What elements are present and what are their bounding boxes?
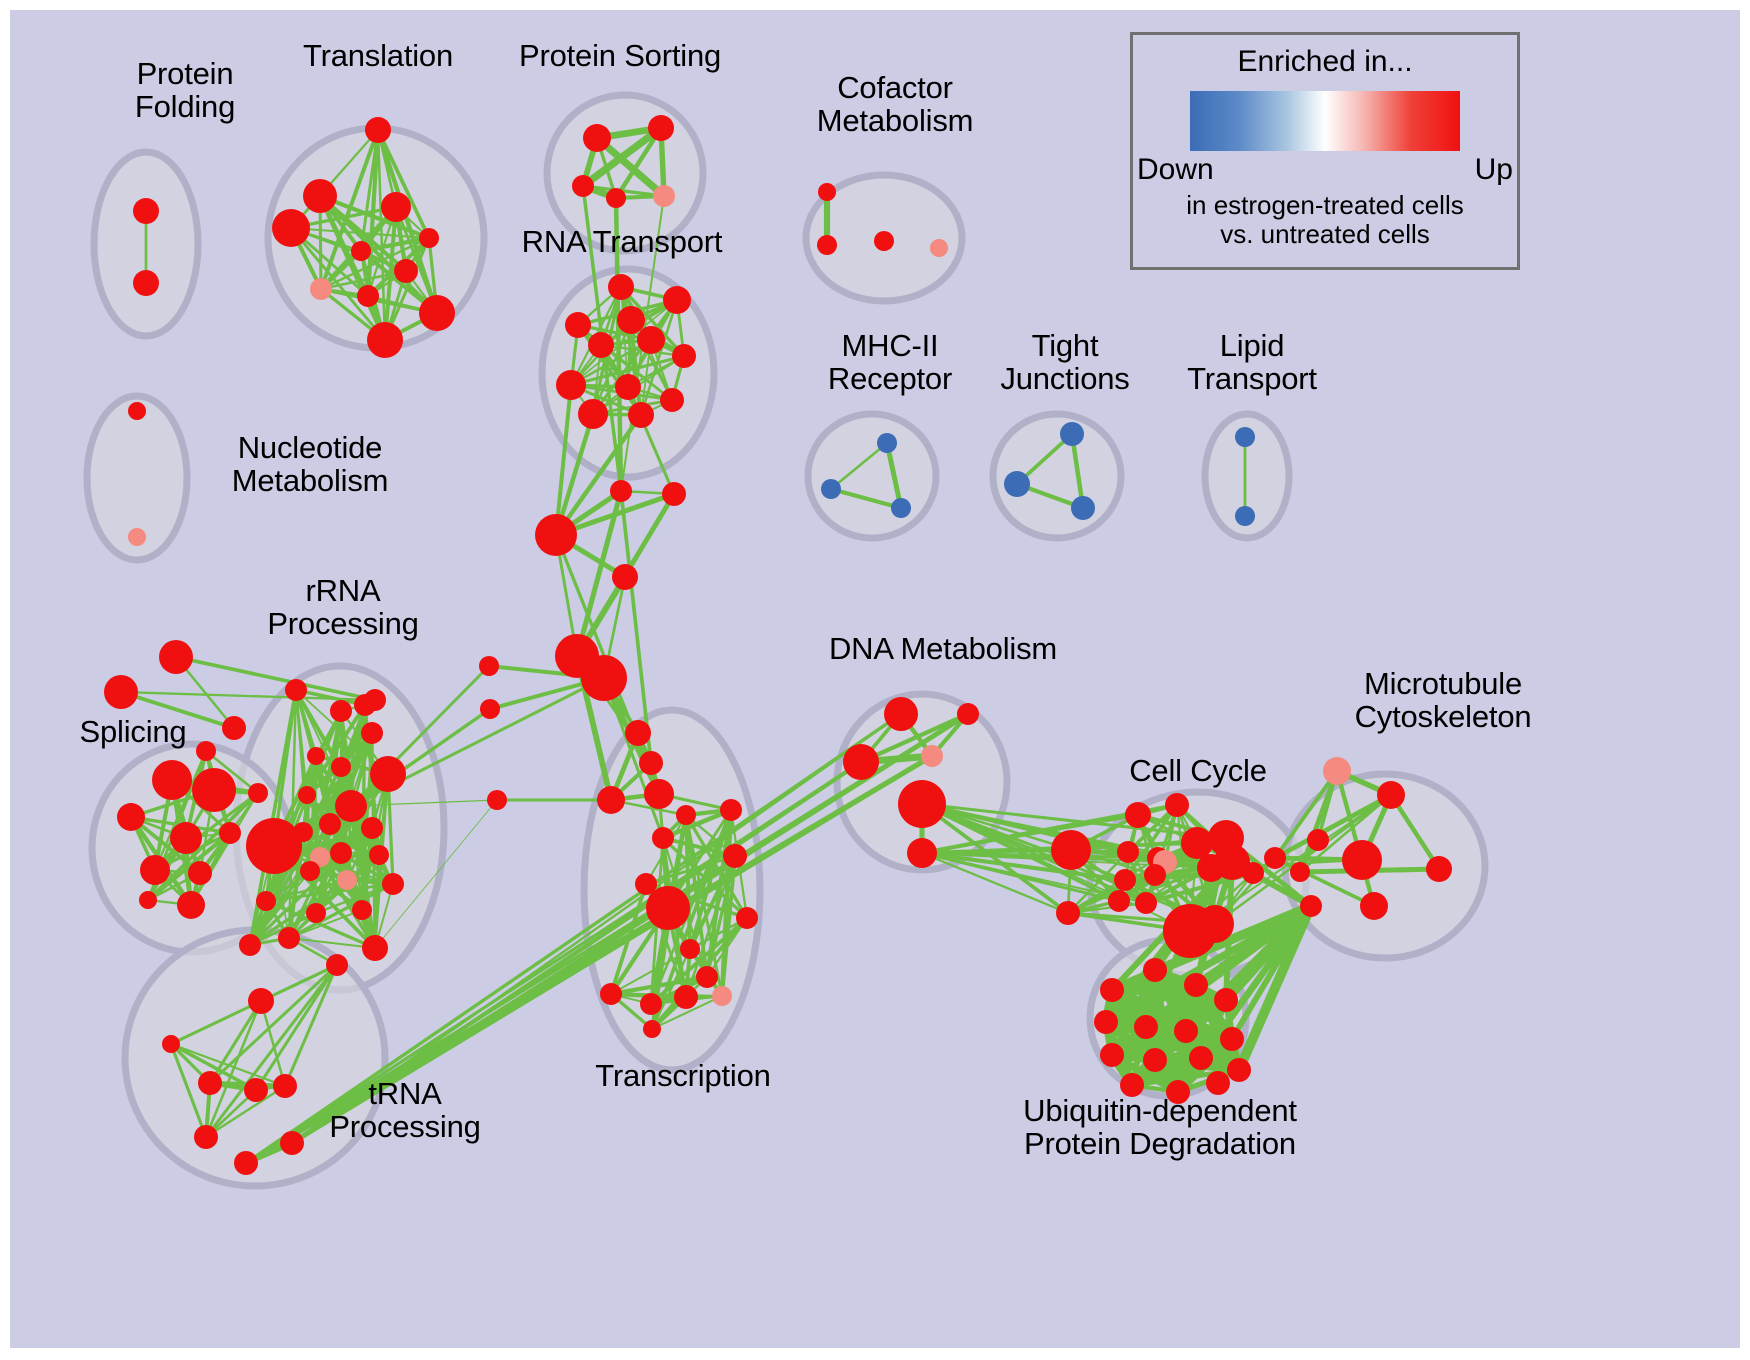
network-node[interactable] [1144,864,1166,886]
network-node[interactable] [817,235,837,255]
network-node[interactable] [907,838,937,868]
network-node[interactable] [818,183,836,201]
network-node[interactable] [280,1131,304,1155]
network-node[interactable] [273,1074,297,1098]
network-node[interactable] [639,751,663,775]
network-node[interactable] [898,780,946,828]
legend-caption: in estrogen-treated cells vs. untreated … [1133,191,1517,249]
network-node[interactable] [1108,890,1130,912]
network-node[interactable] [152,760,192,800]
network-node[interactable] [583,124,611,152]
network-node[interactable] [1242,862,1264,884]
network-node[interactable] [239,934,261,956]
network-node[interactable] [128,402,146,420]
network-node[interactable] [170,822,202,854]
network-node[interactable] [337,870,357,890]
network-node[interactable] [1300,895,1322,917]
network-node[interactable] [874,231,894,251]
network-node[interactable] [891,498,911,518]
network-node[interactable] [487,790,507,810]
network-node[interactable] [244,1078,268,1102]
cluster-label-dna-metabolism: DNA Metabolism [818,633,1068,666]
network-node[interactable] [1135,892,1157,914]
cluster-label-splicing: Splicing [58,716,208,749]
network-node[interactable] [419,228,439,248]
network-node[interactable] [300,861,320,881]
network-node[interactable] [357,285,379,307]
legend-box: Enriched in... Down Up in estrogen-treat… [1130,32,1520,270]
network-node[interactable] [720,799,742,821]
network-node[interactable] [361,817,383,839]
network-node[interactable] [480,699,500,719]
network-node[interactable] [615,374,641,400]
cluster-label-lipid-transport: Lipid Transport [1172,330,1332,395]
network-node[interactable] [419,295,455,331]
network-node[interactable] [535,514,577,556]
cluster-label-rrna-processing: rRNA Processing [248,575,438,640]
network-node[interactable] [335,790,367,822]
network-node[interactable] [1323,757,1351,785]
legend-down-label: Down [1137,153,1214,187]
network-node[interactable] [652,827,674,849]
network-node[interactable] [319,813,341,835]
network-node[interactable] [1051,830,1091,870]
legend-title: Enriched in... [1133,45,1517,79]
network-node[interactable] [1189,1046,1213,1070]
network-node[interactable] [1134,1015,1158,1039]
network-node[interactable] [246,818,302,874]
network-node[interactable] [1143,958,1167,982]
network-node[interactable] [581,655,627,701]
network-node[interactable] [303,179,337,213]
network-node[interactable] [1100,978,1124,1002]
network-node[interactable] [1214,988,1238,1012]
cluster-label-protein-sorting: Protein Sorting [500,40,740,73]
network-node[interactable] [352,900,372,920]
network-node[interactable] [884,697,918,731]
network-node[interactable] [1125,802,1151,828]
network-node[interactable] [843,744,879,780]
network-node[interactable] [1174,1019,1198,1043]
network-node[interactable] [365,117,391,143]
network-node[interactable] [394,259,418,283]
network-node[interactable] [628,402,654,428]
network-node[interactable] [723,844,747,868]
network-node[interactable] [930,239,948,257]
network-node[interactable] [104,675,138,709]
network-node[interactable] [234,1151,258,1175]
network-node[interactable] [272,209,310,247]
network-node[interactable] [310,278,332,300]
network-node[interactable] [331,757,351,777]
network-node[interactable] [1143,1048,1167,1072]
network-node[interactable] [298,786,316,804]
network-node[interactable] [1220,1027,1244,1051]
network-node[interactable] [369,845,389,865]
legend-color-gradient-bar [1190,91,1460,151]
network-node[interactable] [672,344,696,368]
network-node[interactable] [133,198,159,224]
network-node[interactable] [1100,1043,1124,1067]
network-node[interactable] [1342,840,1382,880]
cluster-label-translation: Translation [268,40,488,73]
network-node[interactable] [219,822,241,844]
network-node[interactable] [646,886,690,930]
network-node[interactable] [663,286,691,314]
network-node[interactable] [588,332,614,358]
network-node[interactable] [617,306,645,334]
network-node[interactable] [330,700,352,722]
network-node[interactable] [821,479,841,499]
network-node[interactable] [1181,827,1213,859]
network-node[interactable] [608,274,634,300]
network-node[interactable] [648,115,674,141]
network-node[interactable] [1094,1010,1118,1034]
network-node[interactable] [597,786,625,814]
network-node[interactable] [1206,1071,1230,1095]
network-node[interactable] [921,745,943,767]
network-node[interactable] [128,528,146,546]
network-node[interactable] [188,861,212,885]
network-node[interactable] [674,985,698,1009]
network-node[interactable] [610,480,632,502]
network-node[interactable] [351,241,371,261]
cluster-label-nucleotide-metabolism: Nucleotide Metabolism [200,432,420,497]
network-node[interactable] [285,679,307,701]
network-node[interactable] [162,1035,180,1053]
cluster-label-ubiquitin-degradation: Ubiquitin-dependent Protein Degradation [995,1095,1325,1160]
network-node[interactable] [1360,892,1388,920]
network-node[interactable] [1227,1058,1251,1082]
cluster-label-transcription: Transcription [573,1060,793,1093]
cluster-label-mhc-ii-receptor: MHC-II Receptor [800,330,980,395]
network-node[interactable] [177,891,205,919]
network-node[interactable] [222,716,246,740]
network-node[interactable] [712,986,732,1006]
network-node[interactable] [565,312,591,338]
network-node[interactable] [1235,427,1255,447]
network-node[interactable] [600,983,622,1005]
network-node[interactable] [382,873,404,895]
network-node[interactable] [248,988,274,1014]
network-node[interactable] [640,993,662,1015]
cluster-label-trna-processing: tRNA Processing [310,1078,500,1143]
network-node[interactable] [1117,841,1139,863]
network-node[interactable] [1114,869,1136,891]
figure-canvas: Protein FoldingTranslationProtein Sortin… [0,0,1750,1360]
network-node[interactable] [662,482,686,506]
network-node[interactable] [696,966,718,988]
network-node[interactable] [957,703,979,725]
network-node[interactable] [644,779,674,809]
network-node[interactable] [293,822,313,842]
network-node[interactable] [278,927,300,949]
network-node[interactable] [1235,506,1255,526]
network-node[interactable] [1197,854,1225,882]
cluster-label-cofactor-metabolism: Cofactor Metabolism [790,72,1000,137]
network-plot-area: Protein FoldingTranslationProtein Sortin… [10,10,1740,1348]
network-node[interactable] [1004,471,1030,497]
network-node[interactable] [326,954,348,976]
network-node[interactable] [1165,793,1189,817]
network-node[interactable] [198,1071,222,1095]
network-node[interactable] [361,722,383,744]
legend-end-labels: Down Up [1133,153,1517,187]
network-node[interactable] [117,803,145,831]
network-node[interactable] [256,891,276,911]
network-node[interactable] [643,1020,661,1038]
network-node[interactable] [139,891,157,909]
network-node[interactable] [192,768,236,812]
network-node[interactable] [367,322,403,358]
network-node[interactable] [1071,496,1095,520]
network-node[interactable] [612,564,638,590]
network-node[interactable] [660,388,684,412]
network-node[interactable] [606,188,626,208]
cluster-label-cell-cycle: Cell Cycle [1108,755,1288,788]
network-node[interactable] [676,805,696,825]
legend-up-label: Up [1475,153,1513,187]
network-node[interactable] [479,656,499,676]
network-node[interactable] [1307,829,1329,851]
network-node[interactable] [307,747,325,765]
cluster-label-tight-junctions: Tight Junctions [985,330,1145,395]
cluster-label-rna-transport: RNA Transport [498,226,746,259]
network-node[interactable] [248,783,268,803]
network-node[interactable] [159,640,193,674]
network-node[interactable] [1196,905,1234,943]
network-node[interactable] [370,756,406,792]
network-node[interactable] [1290,862,1310,882]
network-node[interactable] [578,399,608,429]
network-node[interactable] [556,370,586,400]
network-node[interactable] [1060,422,1084,446]
network-node[interactable] [877,433,897,453]
cluster-label-microtubule-cytoskeleton: Microtubule Cytoskeleton [1318,668,1568,733]
network-node[interactable] [637,326,665,354]
network-node[interactable] [133,270,159,296]
network-node[interactable] [1056,901,1080,925]
network-node[interactable] [1426,856,1452,882]
network-node[interactable] [330,842,352,864]
network-node[interactable] [140,855,170,885]
network-node[interactable] [680,939,700,959]
network-node[interactable] [625,720,651,746]
network-node[interactable] [1377,781,1405,809]
network-node[interactable] [653,185,675,207]
network-node[interactable] [362,935,388,961]
cluster-ellipse-mhc-ii-receptor[interactable] [808,414,936,538]
network-node[interactable] [381,192,411,222]
network-node[interactable] [1184,973,1208,997]
network-node[interactable] [1264,847,1286,869]
network-node[interactable] [194,1125,218,1149]
network-node[interactable] [364,689,386,711]
network-node[interactable] [306,903,326,923]
network-node[interactable] [572,175,594,197]
network-node[interactable] [736,907,758,929]
cluster-label-protein-folding: Protein Folding [80,58,290,123]
